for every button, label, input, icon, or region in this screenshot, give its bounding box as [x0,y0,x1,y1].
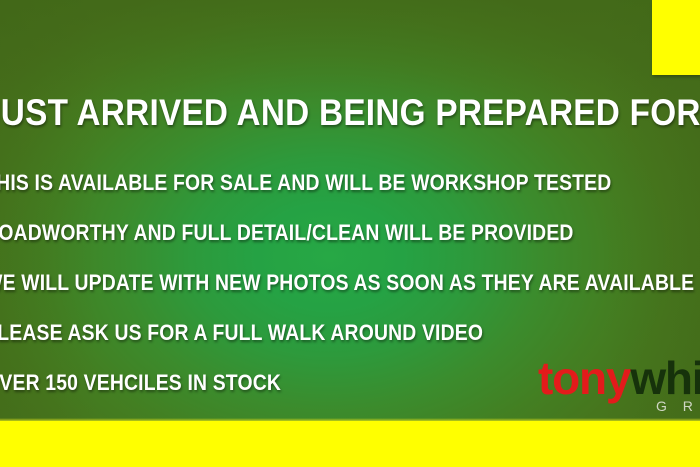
logo-wordmark: tonywhite [538,352,700,404]
logo-word-tony: tony [538,352,630,404]
banner-message-line: WE WILL UPDATE WITH NEW PHOTOS AS SOON A… [0,270,694,296]
banner-stock-line: OVER 150 VEHCILES IN STOCK [0,370,281,396]
tonywhite-group-logo: tonywhite G R O U P [538,352,700,420]
banner-headline: JUST ARRIVED AND BEING PREPARED FOR SALE [0,92,700,134]
logo-tagline-group: G R O U P [656,398,700,414]
banner-message-line: PLEASE ASK US FOR A FULL WALK AROUND VID… [0,320,483,346]
banner-message-line: ROADWORTHY AND FULL DETAIL/CLEAN WILL BE… [0,220,574,246]
logo-word-white: white [630,352,700,404]
banner-message-line: THIS IS AVAILABLE FOR SALE AND WILL BE W… [0,170,611,196]
yellow-footer-bar [0,421,700,467]
dealership-promo-banner: JUST ARRIVED AND BEING PREPARED FOR SALE… [0,0,700,467]
